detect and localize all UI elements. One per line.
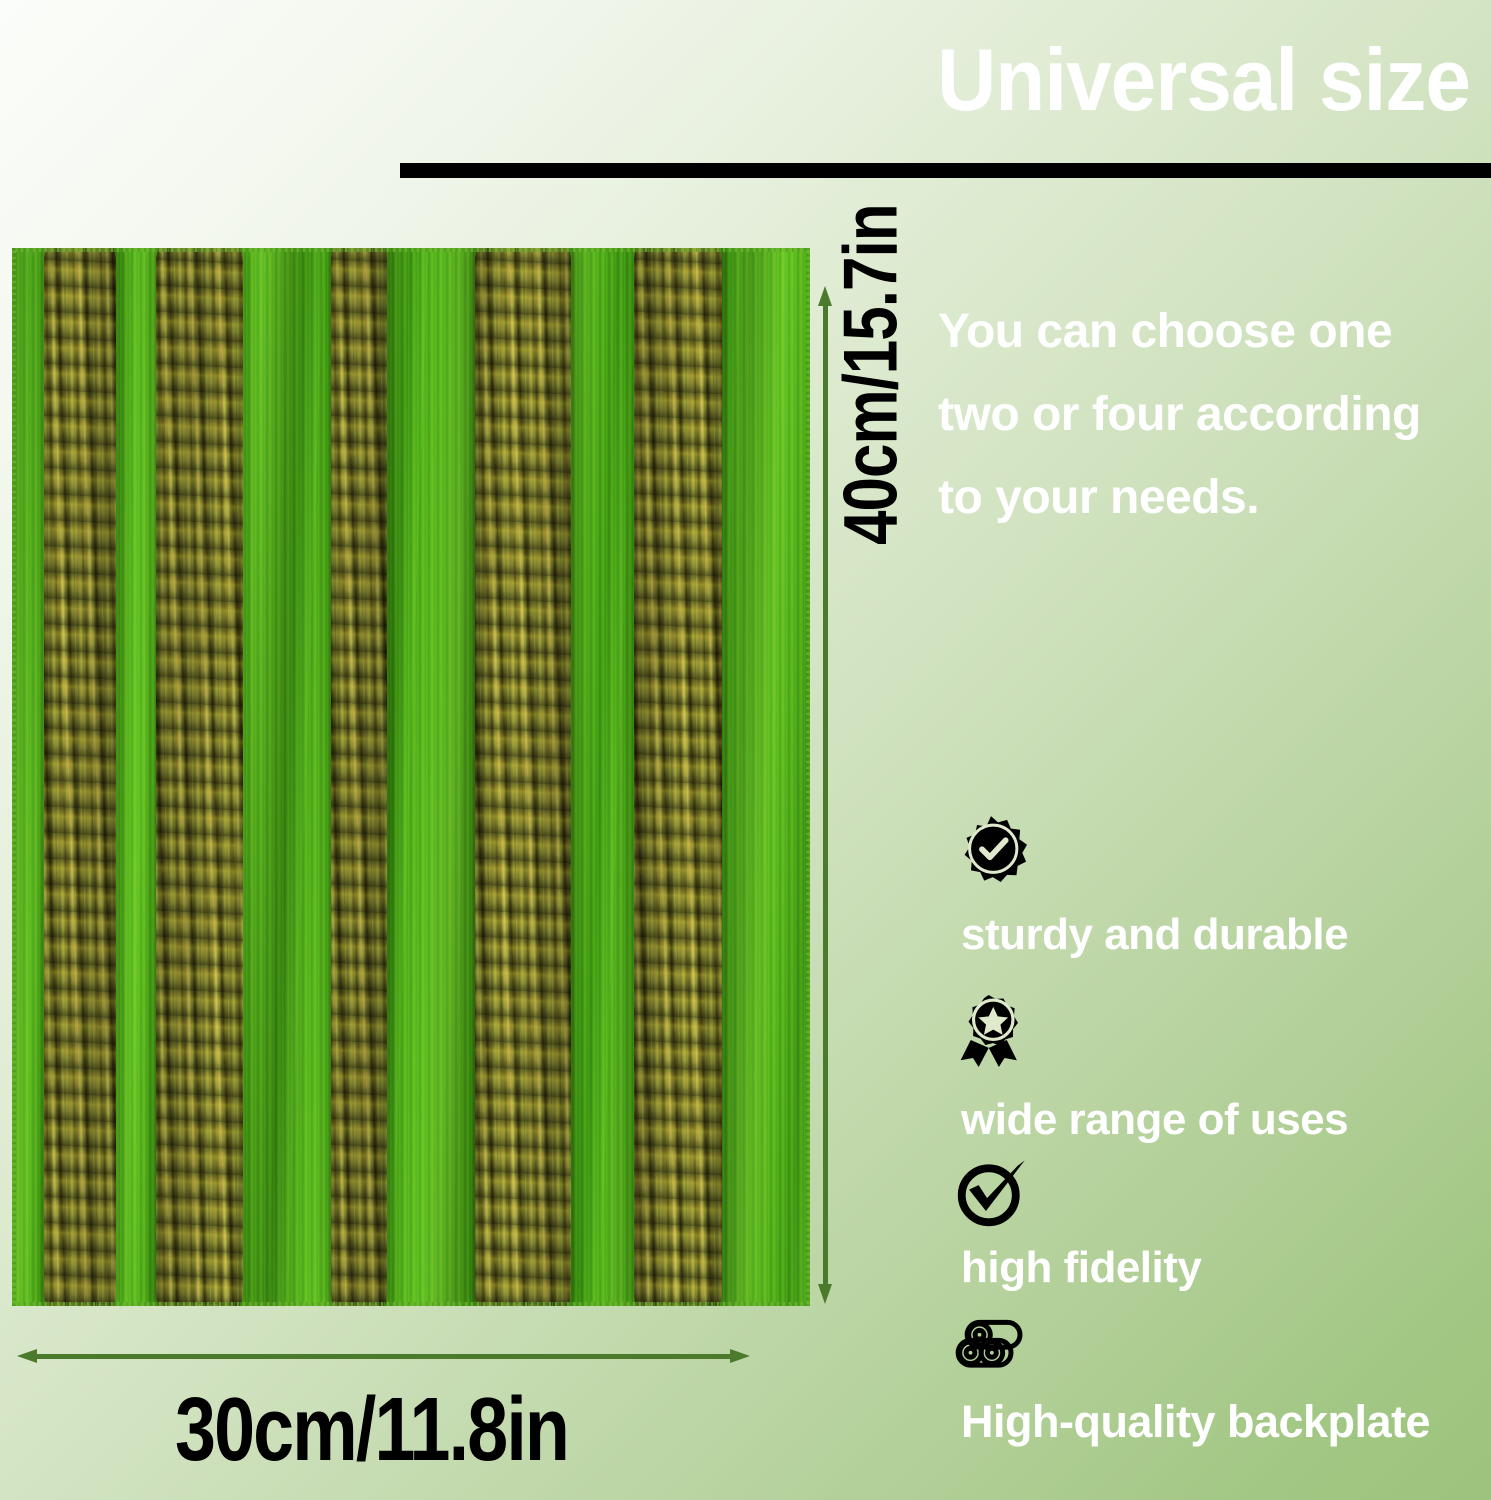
feature-label: sturdy and durable [961,910,1348,960]
product-image [12,248,810,1306]
title-divider [400,163,1491,178]
feature-label: wide range of uses [961,1095,1348,1145]
page-title: Universal size [819,36,1470,124]
arrow-head-right-icon [730,1349,750,1363]
grass-edge-bottom [12,1302,810,1306]
infographic-page: Universal size 40cm/15.7in 30cm/11.8in Y… [0,0,1491,1500]
feature-item: High-quality backplate [955,1310,1491,1460]
feature-item: high fidelity [955,1155,1491,1310]
feature-list: sturdy and durable wide range of uses [955,815,1491,1460]
intro-line: You can choose one [938,290,1468,373]
badge-check-icon [955,815,1027,887]
intro-line: two or four according [938,373,1468,456]
log-stack-icon [955,1310,1027,1382]
arrow-head-down-icon [818,1284,832,1304]
feature-label: High-quality backplate [961,1396,1430,1448]
grass-edge-right [806,248,810,1306]
feature-item: wide range of uses [955,995,1491,1155]
intro-line: to your needs. [938,456,1468,539]
feature-label: high fidelity [961,1243,1201,1293]
feature-item: sturdy and durable [955,815,1491,995]
grass-edge-left [12,248,16,1306]
moss-shading-overlay [12,248,810,1306]
arrow-shaft [31,1354,736,1359]
grass-edge-top [12,248,810,252]
width-dimension-arrow [17,1349,750,1363]
moss-texture [12,248,810,1306]
width-dimension-label: 30cm/11.8in [175,1378,568,1481]
intro-paragraph: You can choose one two or four according… [938,290,1468,539]
award-ribbon-icon [955,995,1027,1067]
check-circle-icon [955,1157,1027,1229]
height-dimension-label: 40cm/15.7in [828,204,915,545]
